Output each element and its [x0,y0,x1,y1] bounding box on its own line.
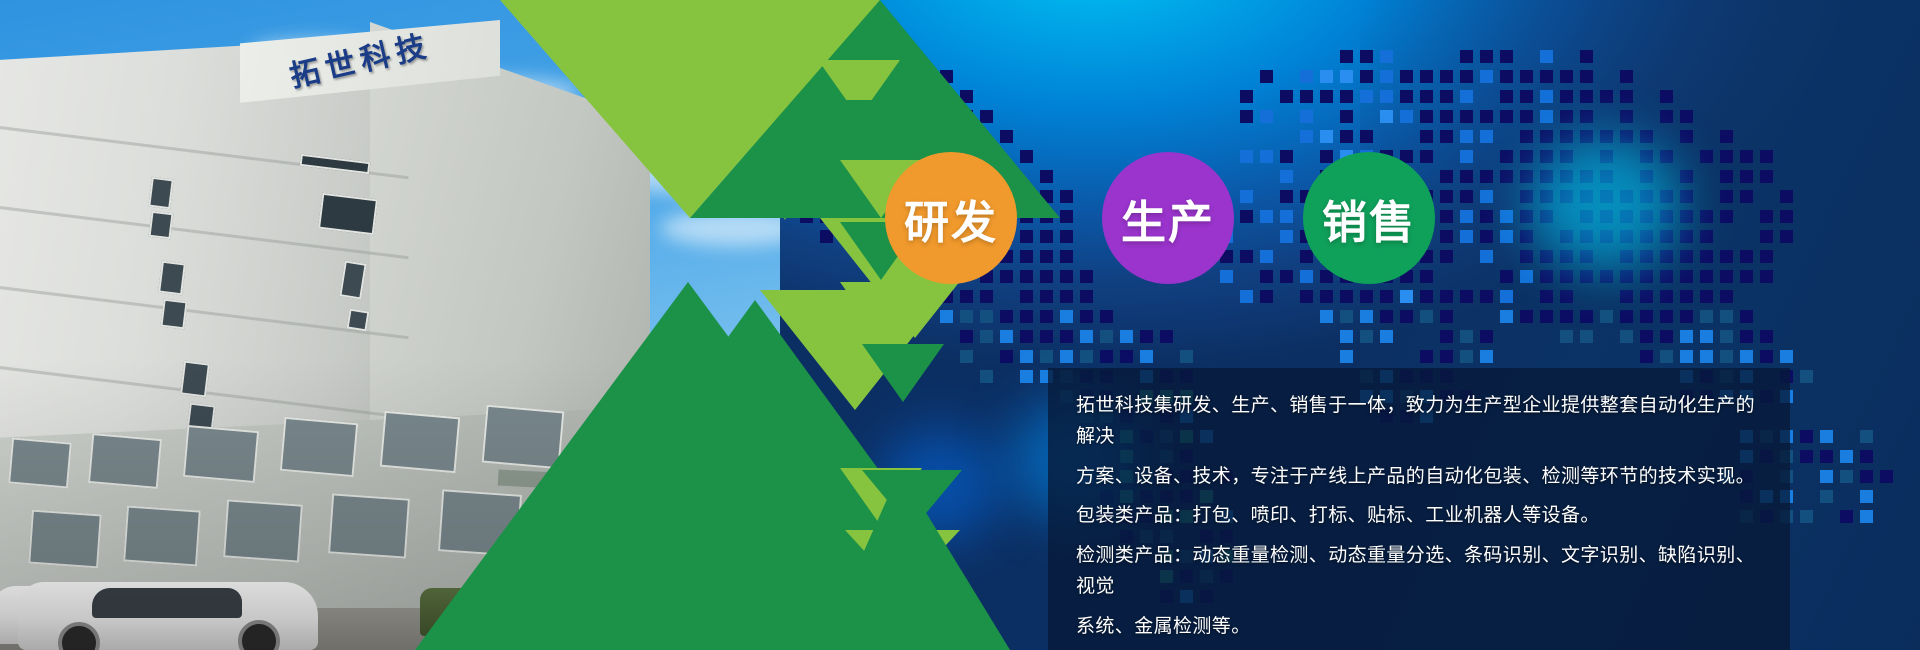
map-dot [1080,270,1093,283]
map-dot [1460,350,1473,363]
map-dot [1340,350,1353,363]
map-dot [1620,130,1633,143]
map-dot [1620,270,1633,283]
map-dot [1620,250,1633,263]
map-dot [1700,310,1713,323]
map-dot [1400,70,1413,83]
map-dot [1840,510,1853,523]
map-dot [1460,230,1473,243]
map-dot [1580,170,1593,183]
map-dot [1540,70,1553,83]
map-dot [1680,170,1693,183]
map-dot [1760,210,1773,223]
map-dot [1260,70,1273,83]
map-dot [1340,90,1353,103]
map-dot [1300,130,1313,143]
map-dot [1320,310,1333,323]
map-dot [1480,190,1493,203]
map-dot [1780,230,1793,243]
map-dot [1620,90,1633,103]
map-dot [1460,330,1473,343]
map-dot [1080,310,1093,323]
map-dot [1700,290,1713,303]
map-dot [1240,110,1253,123]
map-dot [1540,290,1553,303]
description-line: 包装类产品：打包、喷印、打标、贴标、工业机器人等设备。 [1076,500,1760,531]
map-dot [1480,250,1493,263]
map-dot [1740,190,1753,203]
map-dot [1660,250,1673,263]
map-dot [1480,350,1493,363]
map-dot [1740,170,1753,183]
map-dot [1060,310,1073,323]
map-dot [1620,330,1633,343]
circle-rnd[interactable]: 研发 [885,152,1017,284]
map-dot [1480,170,1493,183]
map-dot [1480,70,1493,83]
map-dot [1260,110,1273,123]
map-dot [1760,250,1773,263]
description-line: 拓世科技集研发、生产、销售于一体，致力为生产型企业提供整套自动化生产的解决 [1076,390,1760,452]
map-dot [1540,210,1553,223]
map-dot [1440,230,1453,243]
map-dot [1140,350,1153,363]
circle-rnd-label: 研发 [904,186,998,251]
map-dot [1760,270,1773,283]
map-dot [1360,330,1373,343]
map-dot [1640,170,1653,183]
map-dot [1860,510,1873,523]
map-dot [1420,90,1433,103]
map-dot [1680,290,1693,303]
map-dot [1380,50,1393,63]
map-dot [1380,70,1393,83]
map-dot [1280,190,1293,203]
map-dot [1240,210,1253,223]
map-dot [1420,150,1433,163]
map-dot [1340,110,1353,123]
map-dot [1300,290,1313,303]
map-dot [1620,210,1633,223]
map-dot [1800,450,1813,463]
map-dot [1520,250,1533,263]
map-dot [1580,90,1593,103]
map-dot [1300,250,1313,263]
map-dot [1780,350,1793,363]
map-dot [1700,330,1713,343]
map-dot [1240,250,1253,263]
map-dot [1520,150,1533,163]
map-dot [1500,150,1513,163]
map-dot [1060,330,1073,343]
map-dot [1080,330,1093,343]
map-dot [1140,330,1153,343]
map-dot [1420,70,1433,83]
map-dot [1760,350,1773,363]
map-dot [1280,90,1293,103]
map-dot [1420,310,1433,323]
map-dot [1320,70,1333,83]
map-dot [1440,210,1453,223]
circle-production[interactable]: 生产 [1102,152,1234,284]
map-dot [1520,270,1533,283]
map-dot [1660,230,1673,243]
map-dot [1640,290,1653,303]
map-dot [1720,250,1733,263]
map-dot [1360,130,1373,143]
map-dot [1620,70,1633,83]
map-dot [1640,310,1653,323]
map-dot [1500,50,1513,63]
map-dot [1580,190,1593,203]
map-dot [1720,130,1733,143]
green-geometric-divider [0,0,1060,650]
map-dot [1380,110,1393,123]
map-dot [1420,350,1433,363]
map-dot [1100,310,1113,323]
map-dot [1060,230,1073,243]
map-dot [1560,330,1573,343]
map-dot [1380,310,1393,323]
map-dot [1560,190,1573,203]
map-dot [1800,370,1813,383]
map-dot [1700,230,1713,243]
map-dot [1400,110,1413,123]
map-dot [1540,170,1553,183]
map-dot [1720,290,1733,303]
map-dot [1240,150,1253,163]
map-dot [1320,290,1333,303]
map-dot [1580,310,1593,323]
map-dot [1120,350,1133,363]
map-dot [1460,210,1473,223]
map-dot [1420,270,1433,283]
map-dot [1820,490,1833,503]
map-dot [1780,210,1793,223]
description-panel: 拓世科技集研发、生产、销售于一体，致力为生产型企业提供整套自动化生产的解决 方案… [1048,368,1790,650]
map-dot [1680,110,1693,123]
map-dot [1760,230,1773,243]
map-dot [1360,50,1373,63]
map-dot [1060,250,1073,263]
map-dot [1520,130,1533,143]
map-dot [1080,290,1093,303]
map-dot [1700,350,1713,363]
map-dot [1700,210,1713,223]
map-dot [1460,150,1473,163]
map-dot [1520,70,1533,83]
map-dot [1440,350,1453,363]
map-dot [1680,330,1693,343]
map-dot [1480,330,1493,343]
map-dot [1400,90,1413,103]
map-dot [1280,230,1293,243]
map-dot [1640,270,1653,283]
map-dot [1120,330,1133,343]
map-dot [1660,330,1673,343]
circle-sales-label: 销售 [1322,186,1416,251]
map-dot [1540,90,1553,103]
map-dot [1520,230,1533,243]
map-dot [1280,150,1293,163]
map-dot [1620,310,1633,323]
map-dot [1420,110,1433,123]
map-dot [1660,210,1673,223]
map-dot [1480,210,1493,223]
map-dot [1260,210,1273,223]
map-dot [1580,50,1593,63]
map-dot [1720,270,1733,283]
map-dot [1740,350,1753,363]
map-dot [1660,290,1673,303]
map-dot [1600,230,1613,243]
map-dot [1440,330,1453,343]
map-dot [1060,270,1073,283]
map-dot [1300,90,1313,103]
map-dot [1460,170,1473,183]
map-dot [1780,190,1793,203]
map-dot [1500,110,1513,123]
map-dot [1380,290,1393,303]
map-dot [1540,130,1553,143]
map-dot [1060,190,1073,203]
map-dot [1420,130,1433,143]
map-dot [1520,310,1533,323]
map-dot [1800,430,1813,443]
map-dot [1540,310,1553,323]
map-dot [1520,210,1533,223]
map-dot [1660,150,1673,163]
map-dot [1520,110,1533,123]
map-dot [1680,130,1693,143]
map-dot [1440,310,1453,323]
map-dot [1560,110,1573,123]
map-dot [1100,350,1113,363]
map-dot [1640,210,1653,223]
map-dot [1860,430,1873,443]
map-dot [1720,210,1733,223]
map-dot [1600,90,1613,103]
map-dot [1320,150,1333,163]
map-dot [1720,150,1733,163]
map-dot [1760,170,1773,183]
map-dot [1340,310,1353,323]
map-dot [1720,330,1733,343]
map-dot [1340,70,1353,83]
map-dot [1360,290,1373,303]
map-dot [1540,50,1553,63]
map-dot [1640,350,1653,363]
circle-production-label: 生产 [1121,186,1215,251]
map-dot [1600,150,1613,163]
map-dot [1480,110,1493,123]
map-dot [1080,350,1093,363]
map-dot [1720,190,1733,203]
map-dot [1460,110,1473,123]
map-dot [1700,270,1713,283]
map-dot [1260,290,1273,303]
map-dot [1660,310,1673,323]
map-dot [1340,290,1353,303]
map-dot [1500,290,1513,303]
map-dot [1500,310,1513,323]
map-dot [1440,170,1453,183]
map-dot [1740,150,1753,163]
map-dot [1540,150,1553,163]
map-dot [1480,130,1493,143]
map-dot [1500,90,1513,103]
map-dot [1720,170,1733,183]
map-dot [1320,130,1333,143]
map-dot [1560,170,1573,183]
map-dot [1540,250,1553,263]
map-dot [1240,290,1253,303]
map-dot [1220,270,1233,283]
map-dot [1440,250,1453,263]
map-dot [1260,150,1273,163]
map-dot [1720,310,1733,323]
map-dot [1500,230,1513,243]
map-dot [1380,330,1393,343]
map-dot [1660,110,1673,123]
map-dot [1600,190,1613,203]
map-dot [1680,190,1693,203]
map-dot [1460,130,1473,143]
map-dot [1580,330,1593,343]
map-dot [1440,290,1453,303]
map-dot [1360,90,1373,103]
map-dot [1580,130,1593,143]
description-line: 系统、金属检测等。 [1076,611,1760,642]
map-dot [1840,470,1853,483]
map-dot [1860,490,1873,503]
map-dot [1680,350,1693,363]
map-dot [1820,430,1833,443]
map-dot [1160,330,1173,343]
map-dot [1400,290,1413,303]
map-dot [1060,350,1073,363]
map-dot [1600,310,1613,323]
map-dot [1240,90,1253,103]
map-dot [1820,450,1833,463]
map-dot [1740,270,1753,283]
map-dot [1560,310,1573,323]
map-dot [1600,210,1613,223]
map-dot [1660,270,1673,283]
map-dot [1460,190,1473,203]
map-dot [1500,210,1513,223]
map-dot [1600,170,1613,183]
map-dot [1660,190,1673,203]
map-dot [1640,330,1653,343]
map-dot [1540,270,1553,283]
map-dot [1440,70,1453,83]
map-dot [1680,250,1693,263]
map-dot [1400,310,1413,323]
map-dot [1440,90,1453,103]
map-dot [1280,270,1293,283]
map-dot [1880,470,1893,483]
map-dot [1580,230,1593,243]
map-dot [1740,310,1753,323]
map-dot [1700,250,1713,263]
map-dot [1560,90,1573,103]
map-dot [1240,190,1253,203]
map-dot [1260,270,1273,283]
description-line: 检测类产品：动态重量检测、动态重量分选、条码识别、文字识别、缺陷识别、视觉 [1076,540,1760,602]
map-dot [1300,70,1313,83]
map-dot [1560,290,1573,303]
map-dot [1360,70,1373,83]
map-dot [1740,330,1753,343]
map-dot [1680,210,1693,223]
map-dot [1640,250,1653,263]
map-dot [1440,130,1453,143]
map-dot [1520,170,1533,183]
map-dot [1620,290,1633,303]
map-dot [1820,470,1833,483]
map-dot [1680,230,1693,243]
map-dot [1680,270,1693,283]
circle-sales[interactable]: 销售 [1303,152,1435,284]
map-dot [1560,230,1573,243]
map-dot [1560,150,1573,163]
map-dot [1760,330,1773,343]
map-dot [1740,250,1753,263]
map-dot [1440,190,1453,203]
map-dot [1580,70,1593,83]
map-dot [1500,170,1513,183]
map-dot [1600,270,1613,283]
map-dot [1620,190,1633,203]
map-dot [1580,210,1593,223]
map-dot [1720,350,1733,363]
map-dot [1620,230,1633,243]
map-dot [1480,50,1493,63]
map-dot [1540,110,1553,123]
map-dot [1060,290,1073,303]
map-dot [1540,190,1553,203]
map-dot [1420,290,1433,303]
map-dot [1860,450,1873,463]
map-dot [1060,210,1073,223]
map-dot [1640,190,1653,203]
map-dot [1520,90,1533,103]
map-dot [1640,230,1653,243]
map-dot [1560,130,1573,143]
map-dot [1280,210,1293,223]
map-dot [1300,110,1313,123]
map-dot [1560,70,1573,83]
map-dot [1760,150,1773,163]
map-dot [1480,230,1493,243]
map-dot [1300,270,1313,283]
map-dot [1860,470,1873,483]
map-dot [1800,510,1813,523]
map-dot [1180,350,1193,363]
company-hero-banner: 拓世科技 [0,0,1920,650]
map-dot [1340,50,1353,63]
map-dot [1440,110,1453,123]
map-dot [1840,450,1853,463]
map-dot [1260,250,1273,263]
description-line: 方案、设备、技术，专注于产线上产品的自动化包装、检测等环节的技术实现。 [1076,461,1760,492]
map-dot [1500,270,1513,283]
map-dot [1380,90,1393,103]
map-dot [1460,70,1473,83]
map-dot [1660,90,1673,103]
map-dot [1700,150,1713,163]
